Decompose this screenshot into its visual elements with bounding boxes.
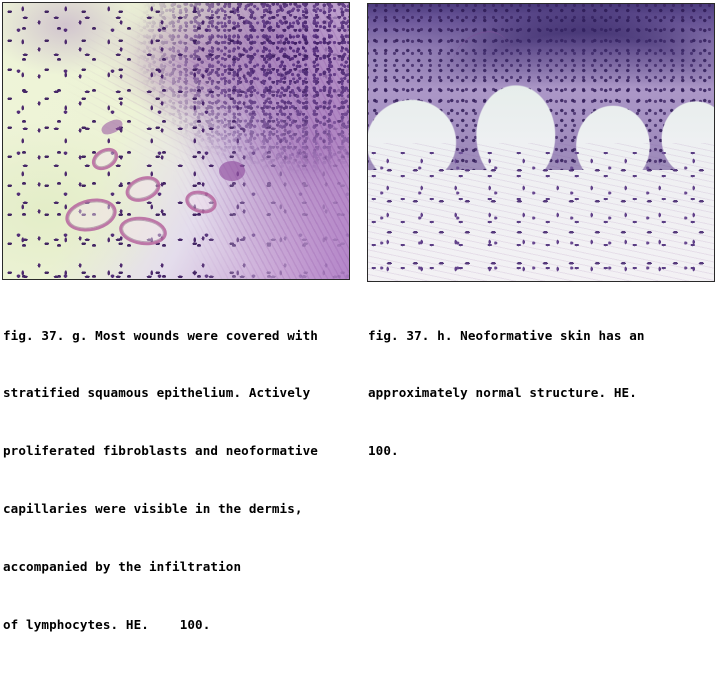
fibroblast-nuclei-layer bbox=[3, 3, 349, 279]
caption-line: accompanied by the infiltration bbox=[3, 557, 355, 576]
figure-panel-h[interactable] bbox=[367, 3, 715, 282]
caption-line: capillaries were visible in the dermis, bbox=[3, 499, 355, 518]
caption-line: proliferated fibroblasts and neoformativ… bbox=[3, 441, 355, 460]
figure-caption-g: fig. 37. g. Most wounds were covered wit… bbox=[3, 287, 355, 673]
caption-line: stratified squamous epithelium. Actively bbox=[3, 383, 355, 402]
figure-page: fig. 37. g. Most wounds were covered wit… bbox=[0, 0, 716, 411]
caption-line: fig. 37. h. Neoformative skin has an bbox=[368, 326, 712, 345]
caption-line: fig. 37. g. Most wounds were covered wit… bbox=[3, 326, 355, 345]
figure-caption-h: fig. 37. h. Neoformative skin has an app… bbox=[368, 287, 712, 499]
stratum-corneum-layer bbox=[368, 4, 714, 87]
figure-panel-g[interactable] bbox=[2, 2, 350, 280]
tissue-debris bbox=[219, 161, 245, 181]
neoformative-skin-micrograph bbox=[368, 4, 714, 281]
caption-line: of lymphocytes. HE. 100. bbox=[3, 615, 355, 634]
granulation-tissue-micrograph bbox=[3, 3, 349, 279]
caption-line: 100. bbox=[368, 441, 712, 460]
caption-line: approximately normal structure. HE. bbox=[368, 383, 712, 402]
